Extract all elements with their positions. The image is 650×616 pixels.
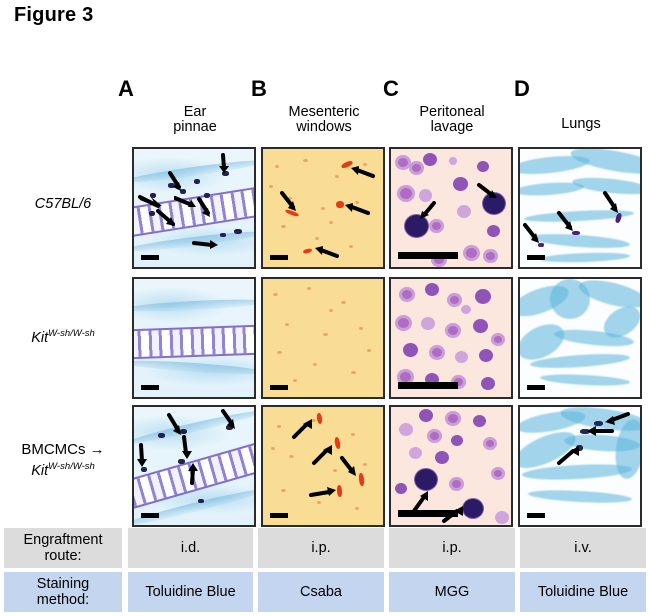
table-label-engraftment-route: Engraftment route: bbox=[4, 528, 122, 568]
mast-cell bbox=[158, 433, 165, 438]
micrograph-mesenteric-windows-kit-wsh bbox=[261, 277, 385, 399]
mast-cell bbox=[316, 413, 322, 425]
table-cell-stain-peritoneal-lavage: MGG bbox=[389, 572, 515, 612]
column-title-line1: Mesenteric bbox=[261, 105, 387, 120]
panel-letter-d: D bbox=[514, 76, 530, 102]
column-title-peritoneal-lavage: Peritoneal lavage bbox=[389, 105, 515, 135]
row-label-genotype-sup: W-sh/W-sh bbox=[48, 328, 95, 339]
mast-cell bbox=[198, 499, 204, 503]
arrow-marker bbox=[582, 423, 616, 439]
scale-bar bbox=[527, 385, 545, 390]
arrow-marker bbox=[220, 409, 242, 433]
engraftment-route-label-line1: Engraftment bbox=[24, 532, 103, 548]
mast-cell bbox=[415, 469, 437, 490]
panel-letter-b: B bbox=[251, 76, 267, 102]
column-title-line2: lavage bbox=[389, 120, 515, 135]
arrow-marker bbox=[476, 181, 502, 203]
arrow-marker bbox=[156, 209, 180, 229]
arrow-marker bbox=[411, 489, 433, 515]
arrow-marker bbox=[279, 191, 303, 213]
row-label-bmcmcs: BMCMCs → bbox=[0, 442, 126, 458]
column-title-line1: Peritoneal bbox=[389, 105, 515, 120]
figure-title: Figure 3 bbox=[14, 4, 93, 27]
column-title-line1: Ear bbox=[132, 105, 258, 120]
table-cell-route-peritoneal-lavage: i.p. bbox=[389, 528, 515, 568]
tissue-canvas bbox=[134, 279, 254, 397]
arrow-marker bbox=[134, 443, 150, 471]
row-label-text: C57BL/6 bbox=[35, 196, 91, 212]
row-label-c57bl6: C57BL/6 bbox=[0, 196, 126, 212]
arrow-marker bbox=[178, 435, 196, 463]
arrow-marker bbox=[417, 201, 439, 223]
tissue-canvas bbox=[391, 279, 511, 397]
table-cell-route-lungs: i.v. bbox=[520, 528, 646, 568]
row-label-genotype-base: Kit bbox=[31, 330, 48, 346]
micrograph-mesenteric-windows-c57bl6 bbox=[261, 147, 385, 269]
arrow-marker bbox=[556, 443, 584, 467]
table-cell-stain-ear-pinnae: Toluidine Blue bbox=[128, 572, 253, 612]
micrograph-peritoneal-lavage-c57bl6 bbox=[389, 147, 513, 269]
column-title-ear-pinnae: Ear pinnae bbox=[132, 105, 258, 135]
arrow-marker bbox=[166, 171, 188, 195]
arrow-marker bbox=[309, 485, 341, 501]
arrow-marker bbox=[339, 455, 363, 479]
scale-bar bbox=[270, 255, 288, 260]
column-title-line2: windows bbox=[261, 120, 387, 135]
column-title-line2: pinnae bbox=[132, 120, 258, 135]
staining-method-label-line2: method: bbox=[37, 592, 89, 608]
micrograph-peritoneal-lavage-bmcmcs bbox=[389, 405, 513, 527]
micrograph-ear-pinnae-kit-wsh bbox=[132, 277, 256, 399]
arrow-marker bbox=[522, 223, 546, 247]
arrow-marker bbox=[216, 153, 232, 177]
arrow-marker bbox=[341, 201, 371, 217]
column-title-lungs: Lungs bbox=[518, 117, 644, 132]
engraftment-route-label-line2: route: bbox=[44, 548, 81, 564]
tissue-canvas bbox=[263, 279, 383, 397]
arrow-marker bbox=[556, 211, 580, 235]
dermis-layer bbox=[132, 297, 256, 314]
micrograph-lungs-kit-wsh bbox=[518, 277, 642, 399]
dermis-layer bbox=[132, 358, 256, 377]
tissue-canvas bbox=[520, 279, 640, 397]
panel-letter-a: A bbox=[118, 76, 134, 102]
column-title-mesenteric-windows: Mesenteric windows bbox=[261, 105, 387, 135]
row-label-genotype-base: Kit bbox=[31, 463, 48, 479]
arrow-marker bbox=[197, 197, 217, 221]
mast-cell bbox=[194, 179, 200, 184]
arrow-marker bbox=[347, 165, 377, 181]
mast-cell bbox=[149, 211, 155, 216]
arrow-marker bbox=[192, 237, 222, 251]
micrograph-ear-pinnae-bmcmcs bbox=[132, 405, 256, 527]
table-cell-stain-mesenteric-windows: Csaba bbox=[258, 572, 384, 612]
arrow-marker bbox=[311, 443, 337, 467]
row-label-kit-wsh: KitW-sh/W-sh bbox=[0, 326, 126, 346]
scale-bar bbox=[398, 382, 458, 389]
micrograph-ear-pinnae-c57bl6 bbox=[132, 147, 256, 269]
micrograph-lungs-bmcmcs bbox=[518, 405, 642, 527]
table-cell-route-ear-pinnae: i.d. bbox=[128, 528, 253, 568]
arrow-marker bbox=[602, 191, 624, 217]
scale-bar bbox=[141, 255, 159, 260]
scale-bar bbox=[398, 252, 458, 259]
row-label-bmcmcs-kit-wsh: BMCMCs → KitW-sh/W-sh bbox=[0, 442, 126, 479]
tissue-canvas bbox=[391, 149, 511, 267]
scale-bar bbox=[527, 255, 545, 260]
scale-bar bbox=[270, 513, 288, 518]
staining-method-label-line1: Staining bbox=[37, 576, 89, 592]
table-label-staining-method: Staining method: bbox=[4, 572, 122, 612]
panel-letter-c: C bbox=[383, 76, 399, 102]
scale-bar bbox=[527, 513, 545, 518]
mast-cell bbox=[234, 229, 242, 234]
arrow-marker bbox=[186, 461, 204, 487]
arrow-marker bbox=[138, 193, 164, 209]
scale-bar bbox=[270, 385, 288, 390]
row-label-genotype-sup: W-sh/W-sh bbox=[48, 461, 95, 472]
table-cell-stain-lungs: Toluidine Blue bbox=[520, 572, 646, 612]
cartilage-layer bbox=[132, 324, 256, 359]
column-title-line1: Lungs bbox=[518, 117, 644, 132]
arrow-marker bbox=[311, 245, 341, 261]
scale-bar bbox=[141, 513, 159, 518]
arrow-marker bbox=[441, 503, 469, 525]
table-cell-route-mesenteric-windows: i.p. bbox=[258, 528, 384, 568]
micrograph-lungs-c57bl6 bbox=[518, 147, 642, 269]
arrow-marker bbox=[291, 417, 317, 441]
micrograph-mesenteric-windows-bmcmcs bbox=[261, 405, 385, 527]
scale-bar bbox=[141, 385, 159, 390]
micrograph-peritoneal-lavage-kit-wsh bbox=[389, 277, 513, 399]
